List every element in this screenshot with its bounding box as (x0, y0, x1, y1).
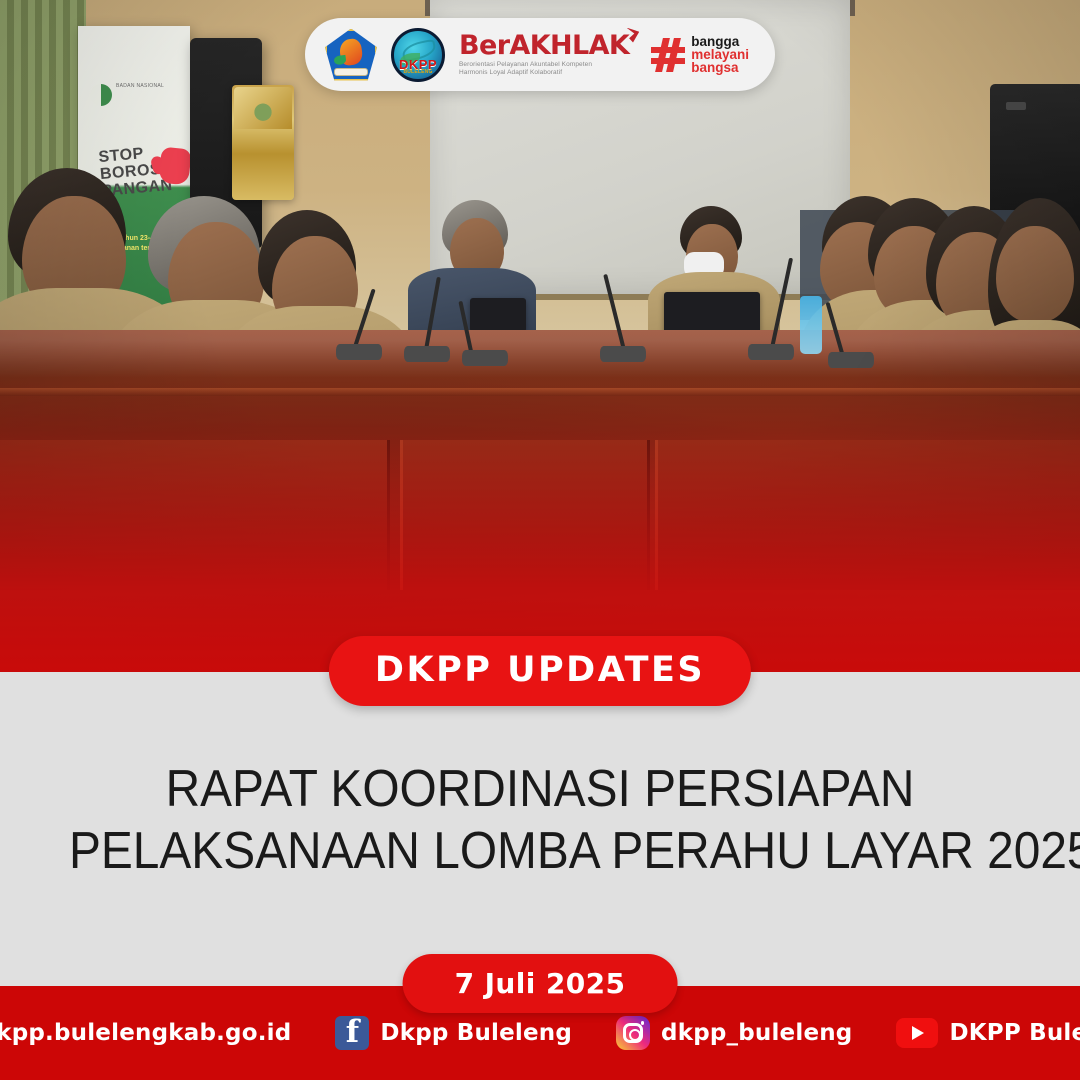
footer-item-website[interactable]: dkpp.bulelengkab.go.id (0, 1017, 313, 1050)
footer-item-youtube[interactable]: DKPP Buleleng (874, 1018, 1080, 1048)
footer-label-instagram: dkpp_buleleng (661, 1020, 852, 1046)
berakhlak-wordmark: BerAKHLAK (459, 32, 629, 60)
page-title: RAPAT KOORDINASI PERSIAPAN PELAKSANAAN L… (0, 758, 1080, 882)
berakhlak-logo: BerAKHLAK Berorientasi Pelayanan Akuntab… (459, 32, 637, 78)
footer-label-youtube: DKPP Buleleng (949, 1020, 1080, 1046)
photo-red-gradient-overlay (0, 372, 1080, 672)
dkpp-logo-subtext: BULELENG (394, 69, 442, 75)
footer-label-facebook: Dkpp Buleleng (380, 1020, 572, 1046)
logo-bar: DKPP BULELENG BerAKHLAK Berorientasi Pel… (305, 18, 775, 91)
hashtag-icon (651, 38, 685, 72)
footer-item-facebook[interactable]: Dkpp Buleleng (313, 1016, 594, 1050)
social-media-poster: BADAN NASIONAL STOP BOROS PANGAN Setiap … (0, 0, 1080, 1080)
footer-label-website: dkpp.bulelengkab.go.id (0, 1020, 291, 1046)
dkpp-circle-logo-icon: DKPP BULELENG (391, 28, 445, 82)
updates-badge: DKPP UPDATES (329, 636, 751, 706)
footer-item-instagram[interactable]: dkpp_buleleng (594, 1016, 874, 1050)
youtube-icon (896, 1018, 938, 1048)
bangga-line-3: bangsa (691, 61, 749, 74)
buleleng-coat-of-arms-icon (325, 29, 377, 81)
instagram-icon (616, 1016, 650, 1050)
berakhlak-tagline: Berorientasi Pelayanan Akuntabel Kompete… (459, 61, 629, 78)
facebook-icon (335, 1016, 369, 1050)
meeting-photo: BADAN NASIONAL STOP BOROS PANGAN Setiap … (0, 0, 1080, 672)
event-date-badge: 7 Juli 2025 (403, 954, 678, 1013)
title-line-1: RAPAT KOORDINASI PERSIAPAN (69, 758, 1011, 820)
bangga-melayani-bangsa-logo: bangga melayani bangsa (651, 35, 749, 74)
title-line-2: PELAKSANAAN LOMBA PERAHU LAYAR 2025 (69, 820, 1011, 882)
